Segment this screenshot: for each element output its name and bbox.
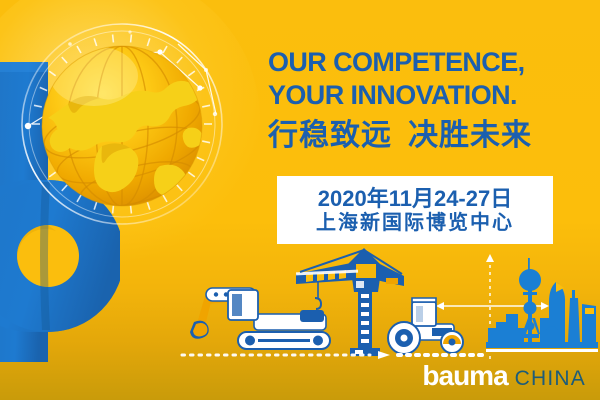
event-date-panel: 2020年11月24-27日 上海新国际博览中心 [277, 176, 553, 244]
machinery-scene [0, 240, 600, 365]
headline-cn-block: 行稳致远决胜未来 [268, 117, 588, 155]
headline-en-line-1: OUR COMPETENCE, [268, 46, 588, 79]
logo-brand-text: bauma [422, 361, 507, 391]
event-venue: 上海新国际博览中心 [316, 211, 514, 235]
headline-cn-part-b: 决胜未来 [408, 119, 532, 152]
bauma-china-logo: bauma CHINA [422, 361, 586, 394]
excavator-icon [190, 288, 330, 349]
logo-region-text: CHINA [515, 364, 586, 394]
globe-icon [10, 18, 230, 233]
event-date: 2020年11月24-27日 [318, 186, 512, 211]
headline-en-line-2: YOUR INNOVATION. [268, 79, 588, 112]
headline-cn-part-a: 行稳致远 [268, 119, 392, 152]
bauma-china-banner: OUR COMPETENCE, YOUR INNOVATION. 行稳致远决胜未… [0, 0, 600, 400]
headline-block: OUR COMPETENCE, YOUR INNOVATION. 行稳致远决胜未… [268, 46, 588, 155]
dotted-ground-line [182, 351, 482, 359]
